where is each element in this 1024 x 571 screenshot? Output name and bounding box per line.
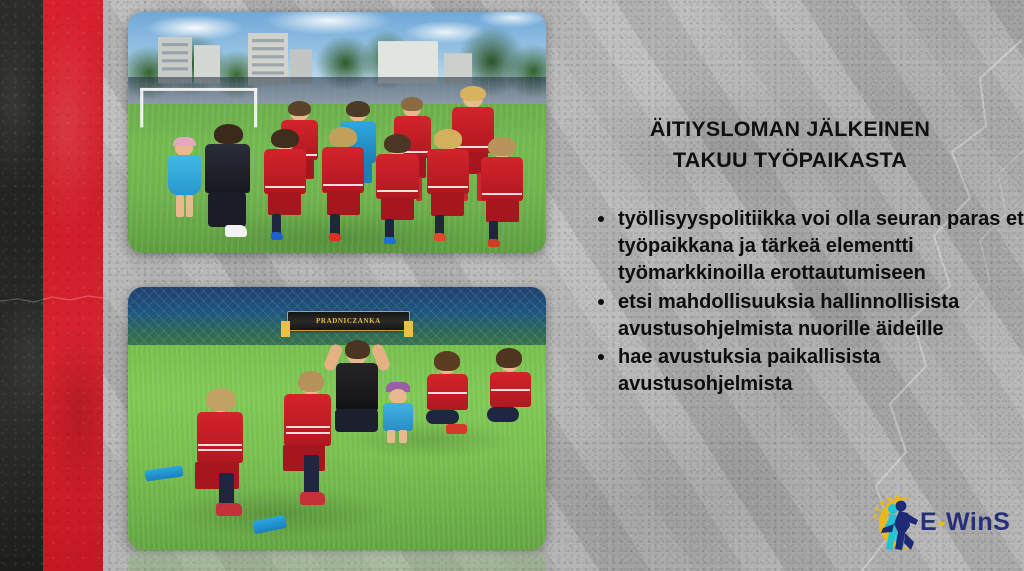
photo-reflection bbox=[128, 551, 546, 571]
photo-goal bbox=[136, 84, 261, 127]
ewins-logo: E-WinS bbox=[868, 492, 1018, 558]
scarf-end-left bbox=[281, 321, 290, 337]
page-title: ÄITIYSLOMAN JÄLKEINEN TAKUU TYÖPAIKASTA bbox=[566, 114, 1014, 175]
photo-coach bbox=[203, 128, 253, 239]
photo-player bbox=[375, 137, 421, 243]
logo-text-dash: - bbox=[937, 508, 946, 536]
team-group-photo bbox=[128, 12, 546, 253]
list-item: hae avustuksia paikallisista avustusohje… bbox=[596, 344, 1024, 398]
bullet-list: työllisyyspolitiikka voi olla seuran par… bbox=[572, 206, 1024, 399]
logo-text-prefix: E bbox=[920, 508, 937, 536]
left-dark-bar bbox=[0, 0, 43, 571]
logo-text-suffix: WinS bbox=[946, 508, 1010, 536]
photo-toddler bbox=[379, 382, 417, 445]
title-line-2: TAKUU TYÖPAIKASTA bbox=[566, 145, 1014, 176]
photo-player bbox=[483, 350, 537, 439]
photo-player bbox=[320, 130, 366, 241]
photo-player bbox=[479, 140, 525, 246]
list-item: työllisyyspolitiikka voi olla seuran par… bbox=[596, 206, 1024, 288]
presentation-slide: PRADNICZANKA bbox=[0, 0, 1024, 571]
photo-player bbox=[262, 133, 308, 239]
equipment-bag bbox=[446, 424, 467, 435]
left-red-accent-bar bbox=[43, 0, 103, 571]
scarf-end-right bbox=[404, 321, 413, 337]
photo-player bbox=[191, 392, 266, 518]
photo-toddler bbox=[166, 137, 204, 224]
club-scarf: PRADNICZANKA bbox=[287, 311, 410, 331]
logo-wordmark: E-WinS bbox=[920, 508, 1010, 537]
title-line-1: ÄITIYSLOMAN JÄLKEINEN bbox=[566, 114, 1014, 145]
list-item: etsi mahdollisuuksia hallinnollisista av… bbox=[596, 289, 1024, 343]
photo-player bbox=[425, 133, 471, 241]
runner-icon bbox=[868, 492, 926, 554]
team-resting-photo: PRADNICZANKA bbox=[128, 287, 546, 550]
scarf-text: PRADNICZANKA bbox=[316, 317, 381, 325]
crack-line-decoration bbox=[0, 292, 110, 306]
photo-player bbox=[278, 374, 353, 506]
